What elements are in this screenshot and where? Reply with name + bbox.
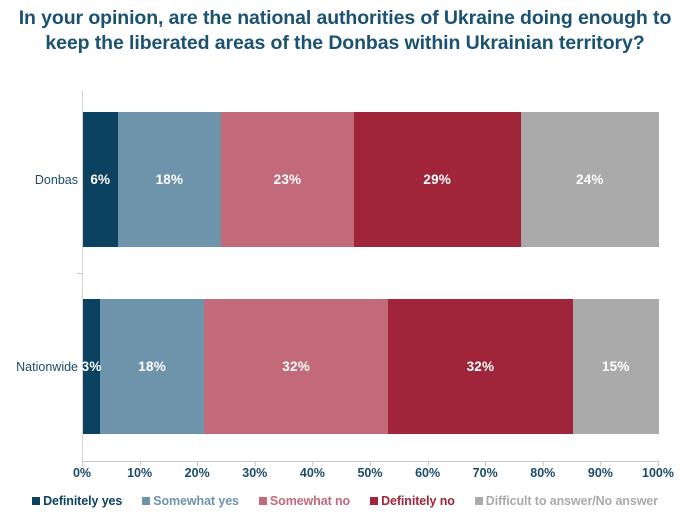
legend-item-difficult-to-answer-no-answer[interactable]: Difficult to answer/No answer — [475, 494, 658, 508]
bar-segment-value: 23% — [274, 172, 302, 187]
chart-legend: Definitely yesSomewhat yesSomewhat noDef… — [0, 494, 690, 508]
x-axis-tick-label: 90% — [575, 466, 625, 480]
x-axis-tick-label: 80% — [518, 466, 568, 480]
legend-swatch-icon — [370, 497, 378, 505]
legend-item-somewhat-no[interactable]: Somewhat no — [259, 494, 350, 508]
bar-segment-nationwide-somewhat-no[interactable]: 32% — [204, 299, 388, 434]
bar-segment-nationwide-definitely-no[interactable]: 32% — [388, 299, 572, 434]
bar-segment-value: 32% — [282, 359, 310, 374]
legend-swatch-icon — [259, 497, 267, 505]
category-label-donbas: Donbas — [0, 173, 78, 187]
bar-segment-donbas-definitely-no[interactable]: 29% — [354, 112, 521, 247]
legend-swatch-icon — [142, 497, 150, 505]
bar-segment-nationwide-difficult-to-answer-no-answer[interactable]: 15% — [573, 299, 659, 434]
bar-row-donbas: 6%18%23%29%24% — [83, 112, 659, 247]
bar-segment-donbas-somewhat-yes[interactable]: 18% — [118, 112, 222, 247]
legend-item-somewhat-yes[interactable]: Somewhat yes — [142, 494, 239, 508]
bar-segment-donbas-difficult-to-answer-no-answer[interactable]: 24% — [521, 112, 659, 247]
x-axis-tick-label: 20% — [172, 466, 222, 480]
bar-segment-value: 24% — [576, 172, 604, 187]
x-axis-tick-label: 0% — [57, 466, 107, 480]
bar-segment-donbas-definitely-yes[interactable]: 6% — [83, 112, 118, 247]
category-label-nationwide: Nationwide — [0, 360, 78, 374]
bar-segment-value: 6% — [90, 172, 110, 187]
legend-label: Difficult to answer/No answer — [486, 494, 658, 508]
legend-item-definitely-yes[interactable]: Definitely yes — [32, 494, 122, 508]
legend-swatch-icon — [475, 497, 483, 505]
bar-segment-value: 29% — [423, 172, 451, 187]
bar-segment-value: 18% — [156, 172, 184, 187]
chart-title: In your opinion, are the national author… — [18, 6, 672, 56]
bar-segment-value: 3% — [82, 359, 102, 374]
x-axis-tick-label: 40% — [287, 466, 337, 480]
legend-item-definitely-no[interactable]: Definitely no — [370, 494, 455, 508]
y-axis-tick — [77, 273, 82, 274]
legend-label: Definitely no — [381, 494, 455, 508]
legend-label: Somewhat no — [270, 494, 350, 508]
x-axis-tick-label: 60% — [403, 466, 453, 480]
x-axis-tick-label: 10% — [115, 466, 165, 480]
bar-segment-value: 18% — [138, 359, 166, 374]
bar-segment-value: 32% — [467, 359, 495, 374]
legend-label: Somewhat yes — [153, 494, 239, 508]
x-axis-tick-label: 70% — [460, 466, 510, 480]
bar-segment-nationwide-definitely-yes[interactable]: 3% — [83, 299, 100, 434]
x-axis-tick-label: 50% — [345, 466, 395, 480]
x-axis-tick-label: 30% — [230, 466, 280, 480]
bar-segment-donbas-somewhat-no[interactable]: 23% — [221, 112, 353, 247]
legend-label: Definitely yes — [43, 494, 122, 508]
x-axis-tick-label: 100% — [633, 466, 683, 480]
legend-swatch-icon — [32, 497, 40, 505]
bar-row-nationwide: 3%18%32%32%15% — [83, 299, 659, 434]
bar-segment-value: 15% — [602, 359, 630, 374]
bar-segment-nationwide-somewhat-yes[interactable]: 18% — [100, 299, 204, 434]
